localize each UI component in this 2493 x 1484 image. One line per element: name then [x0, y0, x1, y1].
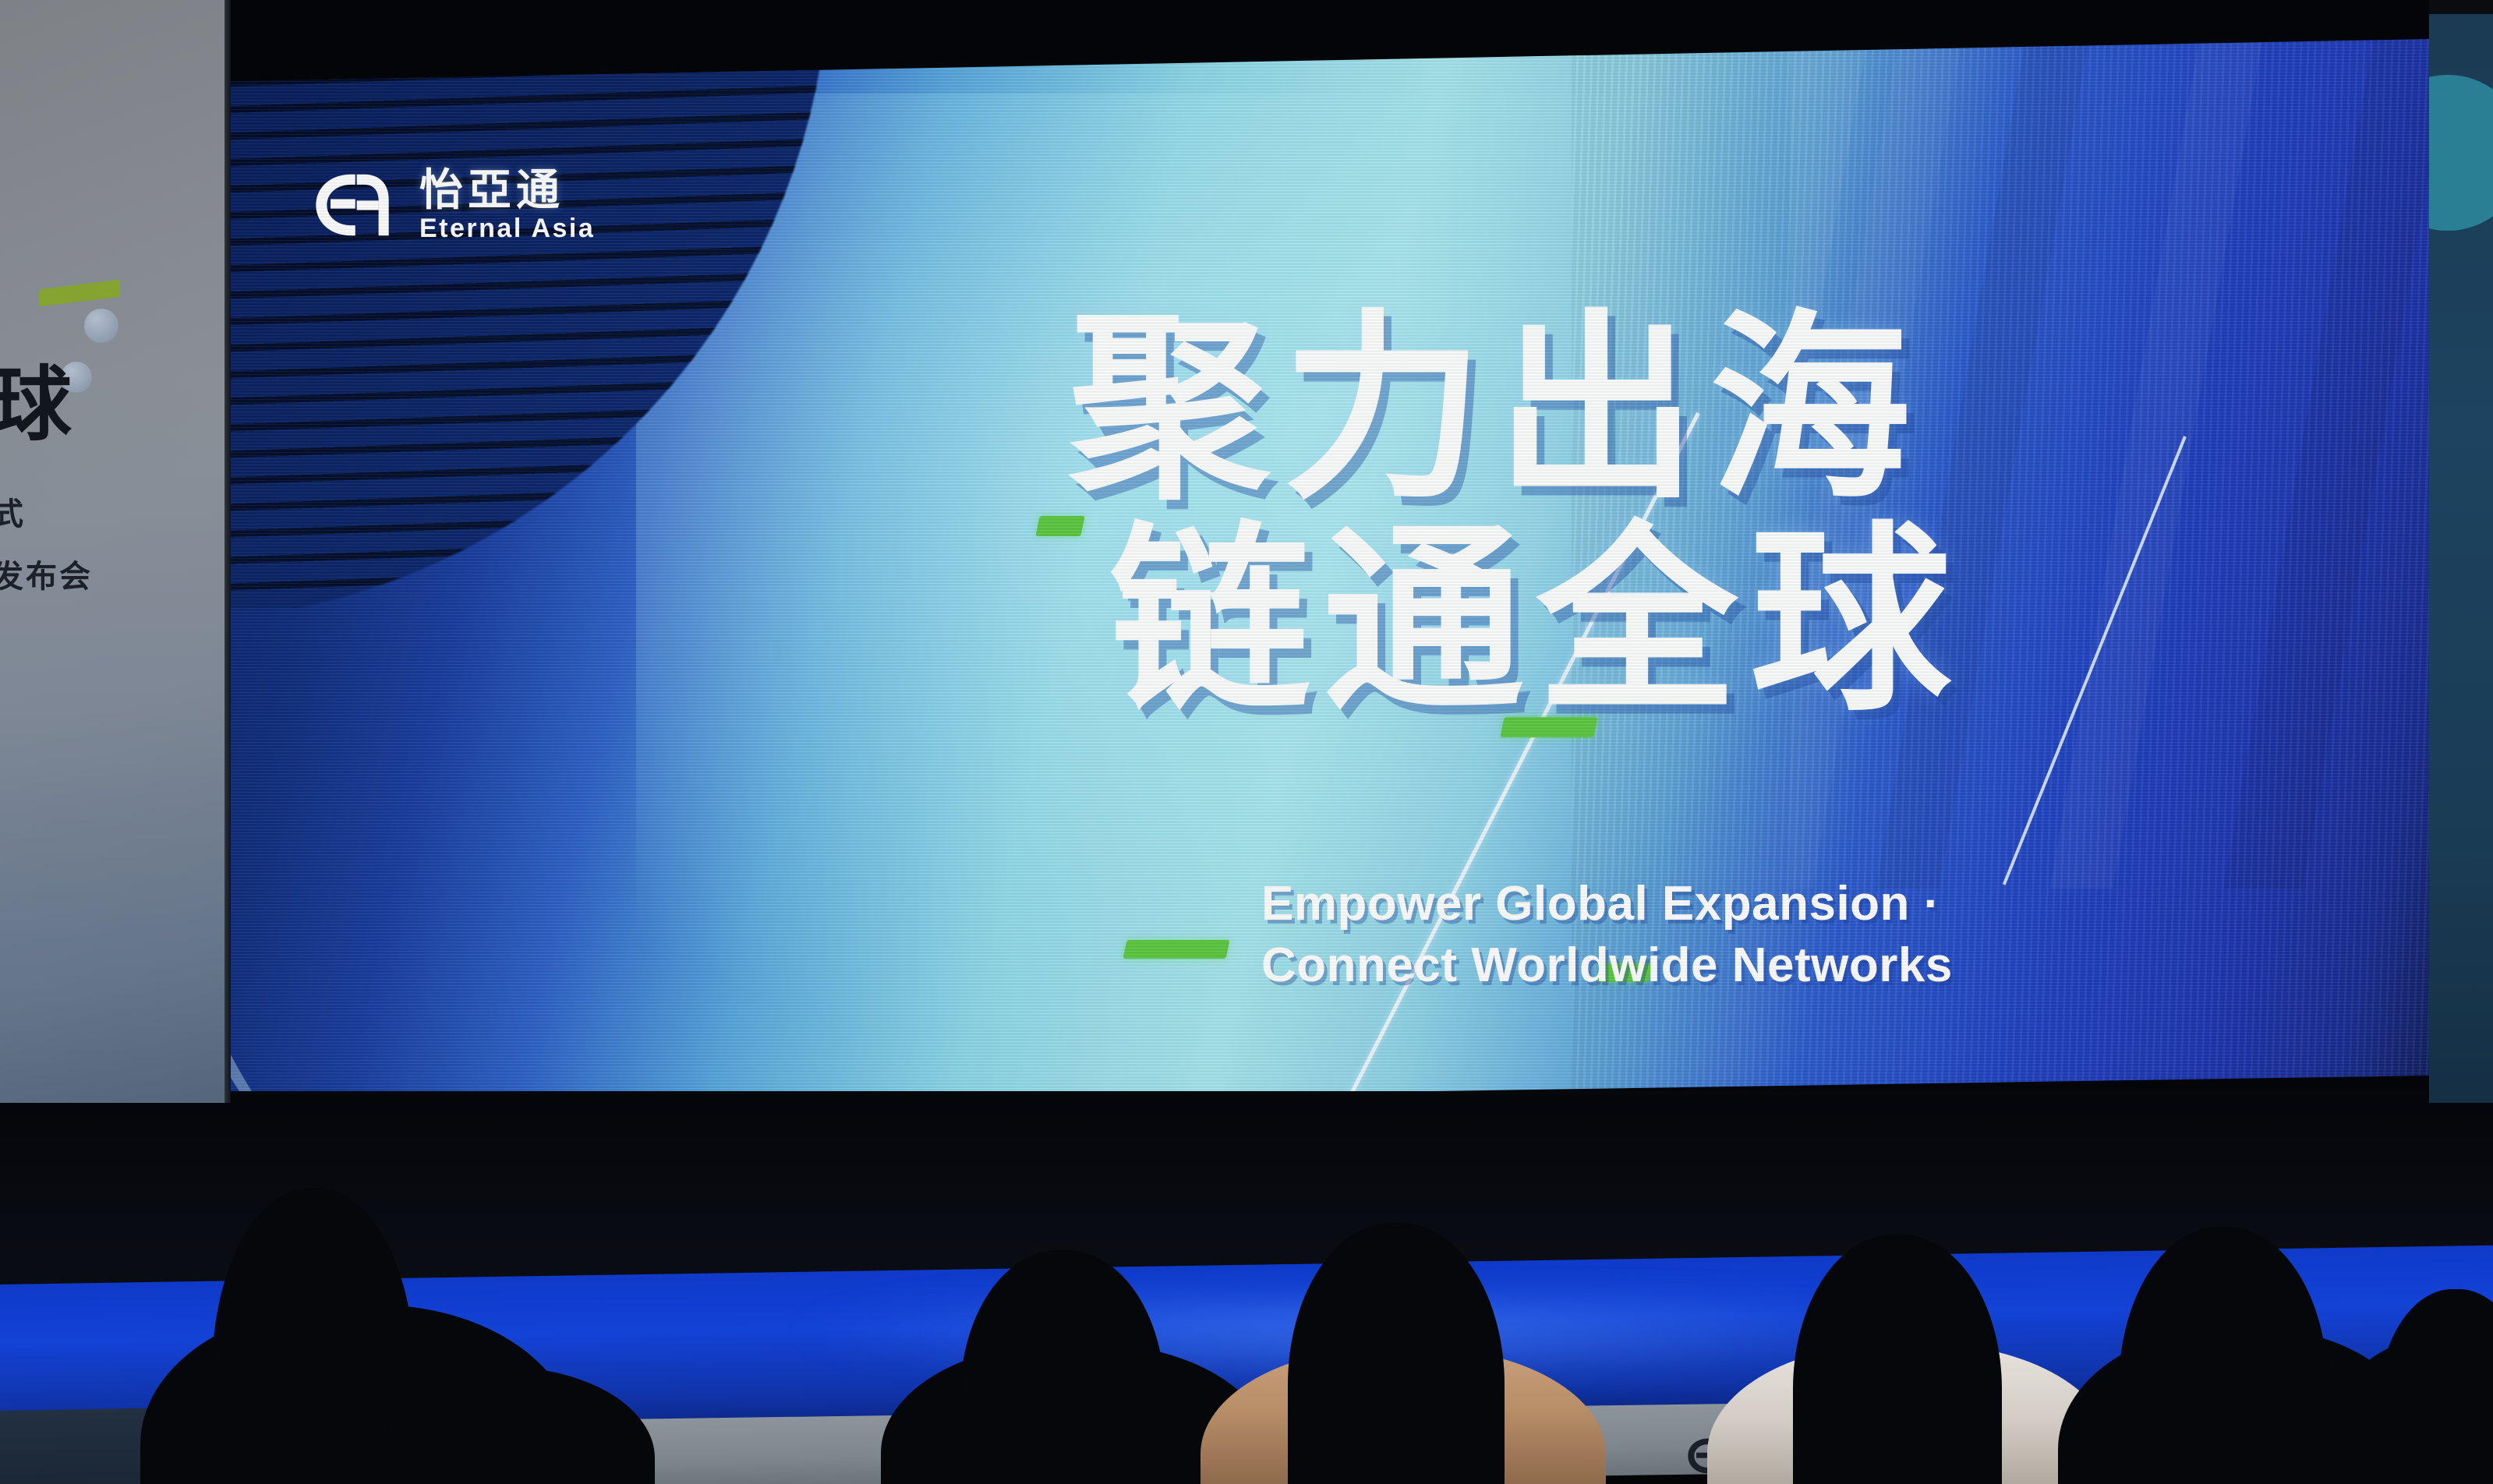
brand-lockup: 怡亞通 Eternal Asia — [309, 168, 595, 242]
headline-line-1: 聚力出海 — [1069, 312, 2285, 507]
headline-green-accent-2 — [1500, 717, 1598, 737]
left-banner-headline: 海 全球 — [0, 257, 142, 455]
left-banner-headline-line2: 全球 — [0, 356, 142, 455]
left-banner-subtext-line1: 动仪式 — [0, 483, 175, 546]
right-wall-panel — [2429, 0, 2493, 1216]
brand-text-group: 怡亞通 Eternal Asia — [419, 168, 595, 242]
headline-line-2: 链通全球 — [1109, 524, 2285, 719]
headline-group: 聚力出海 链通全球 — [1069, 312, 2285, 719]
screenshot-root: 海 全球 动仪式 战略发布会 — [0, 0, 2493, 1484]
led-screen-outer: 怡亞通 Eternal Asia 聚力出海 链通全球 Empower Globa… — [231, 0, 2429, 1115]
left-banner-gradient — [0, 0, 231, 1278]
left-banner-subtext: 动仪式 战略发布会 — [0, 483, 175, 608]
ea-monogram-icon — [309, 171, 396, 238]
headline-green-accent-3 — [1123, 940, 1229, 959]
navy-corner-stripes — [231, 0, 964, 608]
left-banner-subtext-line2: 战略发布会 — [0, 546, 175, 608]
brand-name-en: Eternal Asia — [419, 215, 595, 242]
led-screen: 怡亞通 Eternal Asia 聚力出海 链通全球 Empower Globa… — [231, 0, 2429, 1115]
left-wall-panel: 海 全球 动仪式 战略发布会 — [0, 0, 231, 1278]
subtitle-group: Empower Global Expansion · Connect World… — [1261, 873, 1953, 997]
subtitle-line-1: Empower Global Expansion · — [1261, 873, 1953, 935]
brand-name-cn: 怡亞通 — [419, 168, 595, 212]
subtitle-line-2: Connect Worldwide Networks — [1261, 935, 1953, 996]
right-wall-top-shadow — [2429, 0, 2493, 14]
headline-green-accent-1 — [1035, 516, 1085, 536]
